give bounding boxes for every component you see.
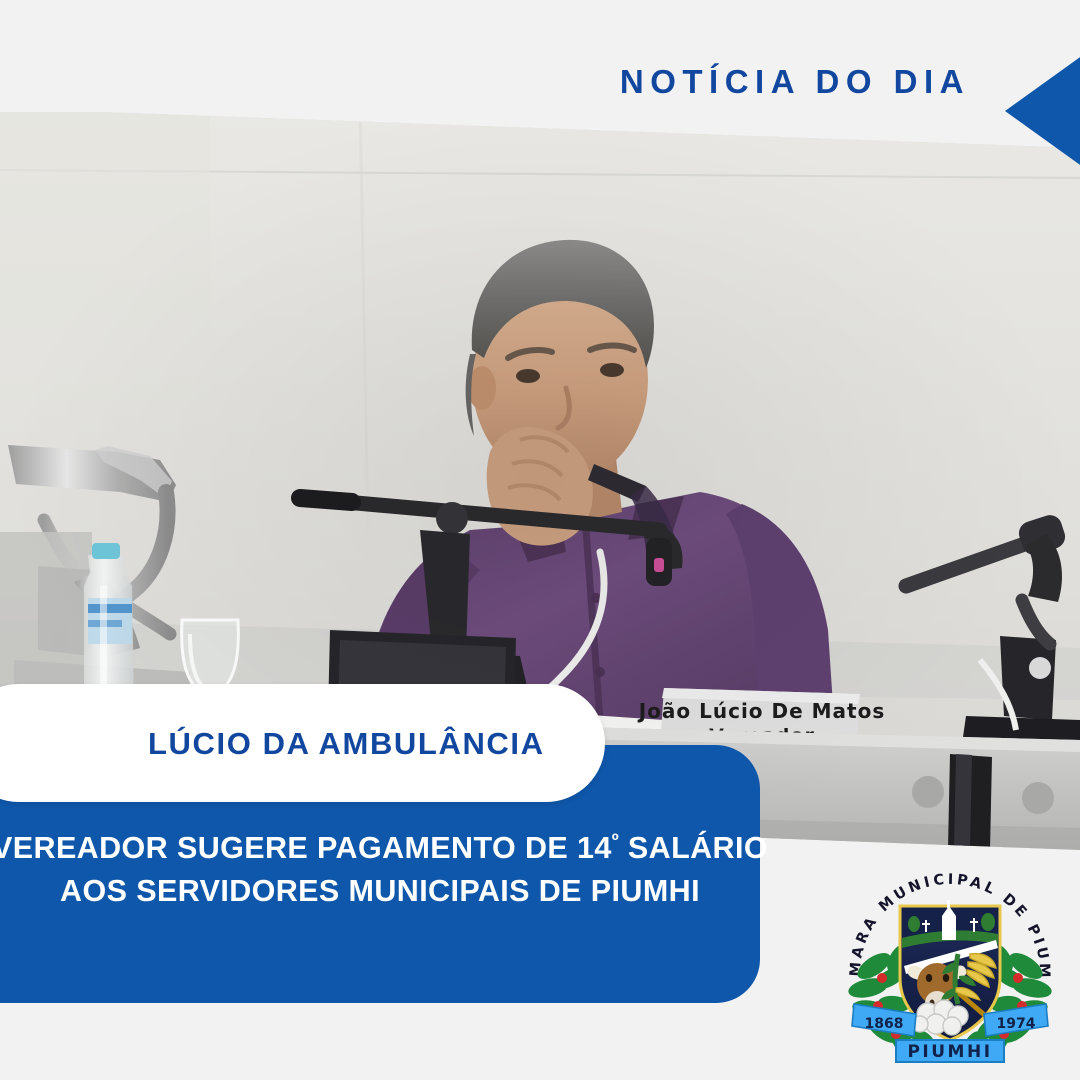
svg-text:PIUMHI: PIUMHI xyxy=(907,1042,992,1062)
headline-line-2: AOS SERVIDORES MUNICIPAIS DE PIUMHI xyxy=(60,870,700,913)
crest-year-right: 1974 xyxy=(997,1016,1036,1032)
crest-year-left: 1868 xyxy=(865,1016,904,1032)
headline-line-1-before: VEREADOR SUGERE PAGAMENTO DE 14 xyxy=(0,831,612,865)
headline-line-1: VEREADOR SUGERE PAGAMENTO DE 14º SALÁRIO xyxy=(0,827,768,870)
crest-city-banner: PIUMHI xyxy=(896,1040,1004,1062)
headline-line-1-after: SALÁRIO xyxy=(619,831,768,865)
crest-illustration: CÂMARA MUNICIPAL DE PIUMHI xyxy=(838,858,1062,1068)
header-bar: NOTÍCIA DO DIA xyxy=(0,0,1080,112)
news-card: NOTÍCIA DO DIA xyxy=(0,0,1080,1080)
ordinal-mark: º xyxy=(612,831,619,852)
page-title: NOTÍCIA DO DIA xyxy=(620,63,970,101)
name-badge-label: LÚCIO DA AMBULÂNCIA xyxy=(148,726,545,762)
coat-of-arms-piumhi: CÂMARA MUNICIPAL DE PIUMHI xyxy=(838,858,1062,1068)
